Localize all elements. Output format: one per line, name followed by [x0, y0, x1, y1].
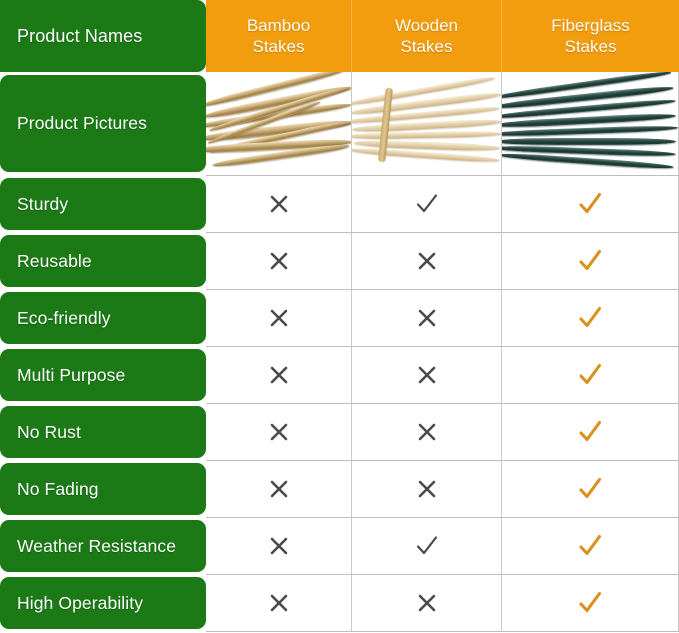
product-image-bamboo [206, 72, 352, 176]
x-mark-icon [416, 307, 438, 329]
row-label-eco-friendly: Eco-friendly [0, 292, 206, 344]
row-label-text: No Rust [17, 422, 81, 443]
x-mark-icon [268, 421, 290, 443]
table-cell [206, 290, 352, 347]
row-label-product-pictures-text: Product Pictures [17, 113, 147, 134]
row-label-text: Sturdy [17, 194, 68, 215]
check-mark-accent-icon [576, 361, 604, 389]
table-row: No Rust [0, 404, 679, 461]
table-cell [206, 575, 352, 632]
table-cell [206, 404, 352, 461]
x-mark-icon [268, 193, 290, 215]
table-cell [206, 347, 352, 404]
row-label-text: Eco-friendly [17, 308, 111, 329]
x-mark-icon [416, 592, 438, 614]
column-header-fiberglass-line1: Fiberglass [551, 16, 629, 35]
header-product-names-label: Product Names [17, 26, 142, 47]
x-mark-icon [416, 364, 438, 386]
column-header-bamboo: Bamboo Stakes [206, 0, 352, 72]
header-product-names-cell: Product Names [0, 0, 206, 72]
row-label-no-fading: No Fading [0, 463, 206, 515]
column-header-fiberglass-line2: Stakes [565, 37, 617, 56]
x-mark-icon [268, 250, 290, 272]
table-cell [502, 176, 679, 233]
table-cell [502, 404, 679, 461]
table-cell [352, 347, 502, 404]
column-header-wooden: Wooden Stakes [352, 0, 502, 72]
column-header-wooden-line1: Wooden [395, 16, 458, 35]
x-mark-icon [268, 535, 290, 557]
table-row: Reusable [0, 233, 679, 290]
row-label-high-operability: High Operability [0, 577, 206, 629]
bamboo-stakes-image [206, 72, 351, 175]
table-row: Multi Purpose [0, 347, 679, 404]
column-header-fiberglass-label: Fiberglass Stakes [551, 15, 629, 57]
table-row: Sturdy [0, 176, 679, 233]
check-mark-icon [414, 191, 440, 217]
row-label-reusable: Reusable [0, 235, 206, 287]
comparison-table: Product Names Bamboo Stakes Wooden Stake… [0, 0, 679, 633]
table-row: High Operability [0, 575, 679, 632]
table-cell [352, 461, 502, 518]
column-header-fiberglass: Fiberglass Stakes [502, 0, 679, 72]
row-label-product-pictures: Product Pictures [0, 75, 206, 172]
table-cell [352, 518, 502, 575]
column-header-bamboo-label: Bamboo Stakes [247, 15, 310, 57]
wooden-stakes-image [352, 72, 501, 175]
check-mark-accent-icon [576, 190, 604, 218]
table-cell [352, 176, 502, 233]
row-label-text: High Operability [17, 593, 143, 614]
table-cell [206, 461, 352, 518]
table-header-row: Product Names Bamboo Stakes Wooden Stake… [0, 0, 679, 72]
product-pictures-row: Product Pictures [0, 72, 679, 176]
table-cell [502, 461, 679, 518]
check-mark-accent-icon [576, 304, 604, 332]
table-cell [352, 290, 502, 347]
row-label-text: Multi Purpose [17, 365, 125, 386]
product-image-fiberglass [502, 72, 679, 176]
table-cell [352, 575, 502, 632]
x-mark-icon [416, 421, 438, 443]
table-row: Weather Resistance [0, 518, 679, 575]
row-label-sturdy: Sturdy [0, 178, 206, 230]
row-label-text: No Fading [17, 479, 99, 500]
x-mark-icon [268, 478, 290, 500]
column-header-wooden-label: Wooden Stakes [395, 15, 458, 57]
column-header-wooden-line2: Stakes [401, 37, 453, 56]
x-mark-icon [416, 478, 438, 500]
column-header-bamboo-line2: Stakes [253, 37, 305, 56]
table-row: No Fading [0, 461, 679, 518]
check-mark-accent-icon [576, 475, 604, 503]
row-label-multi-purpose: Multi Purpose [0, 349, 206, 401]
column-header-bamboo-line1: Bamboo [247, 16, 310, 35]
table-cell [502, 347, 679, 404]
x-mark-icon [268, 592, 290, 614]
table-cell [206, 176, 352, 233]
table-cell [502, 575, 679, 632]
x-mark-icon [416, 250, 438, 272]
table-cell [502, 518, 679, 575]
row-label-text: Reusable [17, 251, 92, 272]
table-cell [502, 290, 679, 347]
check-mark-icon [414, 533, 440, 559]
table-cell [352, 233, 502, 290]
table-cell [206, 518, 352, 575]
check-mark-accent-icon [576, 589, 604, 617]
check-mark-accent-icon [576, 247, 604, 275]
check-mark-accent-icon [576, 418, 604, 446]
table-cell [502, 233, 679, 290]
x-mark-icon [268, 364, 290, 386]
row-label-no-rust: No Rust [0, 406, 206, 458]
table-cell [352, 404, 502, 461]
check-mark-accent-icon [576, 532, 604, 560]
x-mark-icon [268, 307, 290, 329]
product-image-wooden [352, 72, 502, 176]
fiberglass-stakes-image [502, 72, 678, 175]
row-label-text: Weather Resistance [17, 536, 176, 557]
table-cell [206, 233, 352, 290]
table-row: Eco-friendly [0, 290, 679, 347]
row-label-weather-resistance: Weather Resistance [0, 520, 206, 572]
